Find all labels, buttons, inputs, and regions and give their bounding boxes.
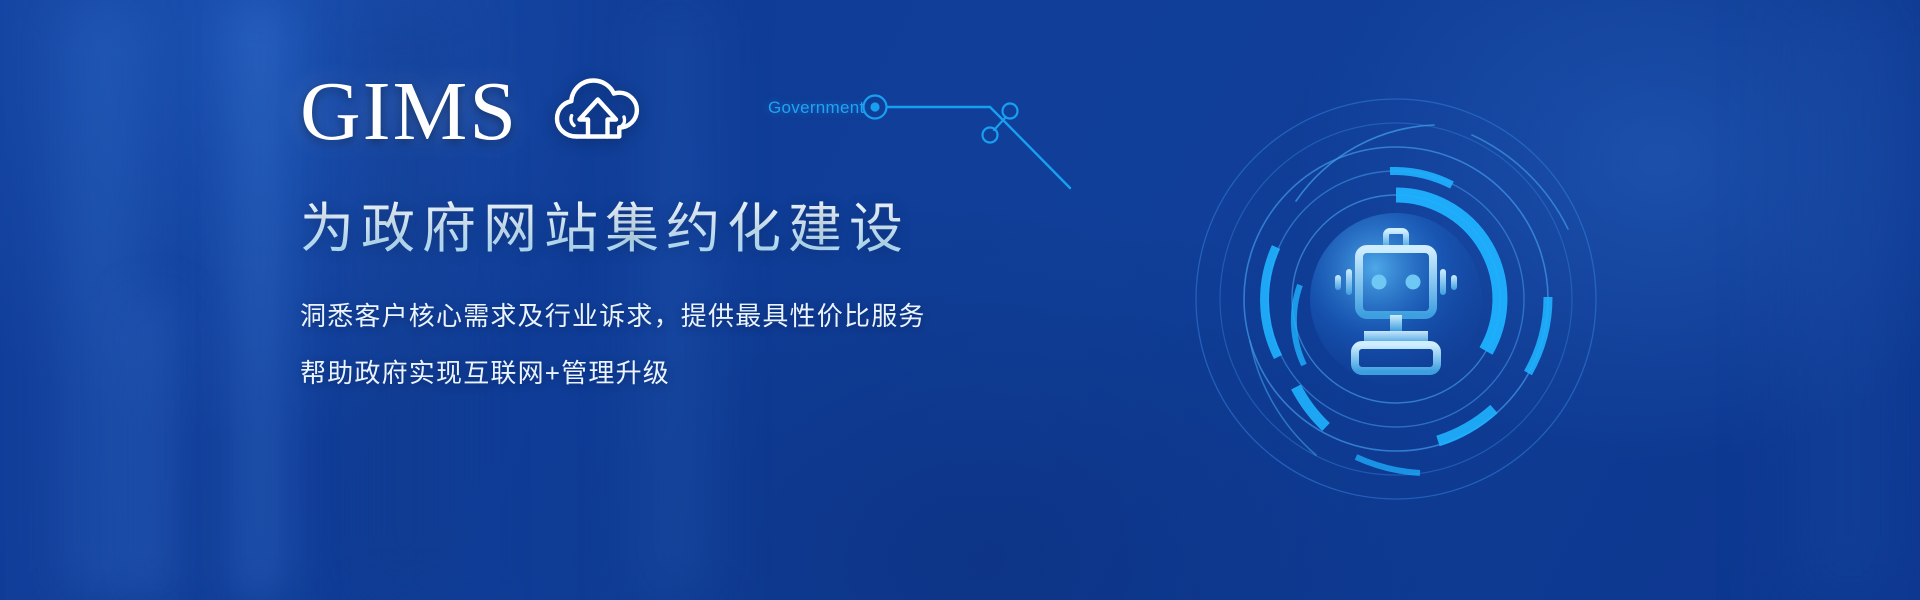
- hero-banner: GIMS 为政府网站集约化建设 洞悉客户核心需求及行业诉求，提供最具性价比服务 …: [0, 0, 1920, 600]
- background-streak: [1760, 0, 1920, 600]
- background-streak: [40, 0, 160, 600]
- government-label: Government: [768, 98, 865, 118]
- tech-ring-graphic: [1176, 79, 1616, 519]
- subtitle-line: 帮助政府实现互联网+管理升级: [300, 353, 926, 390]
- background-streak: [120, 300, 190, 600]
- cloud-upload-icon: [552, 73, 644, 150]
- government-connector: Government: [740, 70, 1160, 200]
- core-glow: [1310, 213, 1482, 385]
- brand-row: GIMS: [300, 72, 644, 152]
- circle-node-icon: [1003, 104, 1018, 119]
- background-streak: [215, 0, 305, 600]
- subtitle-line: 洞悉客户核心需求及行业诉求，提供最具性价比服务: [300, 296, 926, 333]
- ring-node-icon: [864, 96, 887, 119]
- connector-lines: [740, 70, 1160, 200]
- subtitle-list: 洞悉客户核心需求及行业诉求，提供最具性价比服务 帮助政府实现互联网+管理升级: [300, 296, 926, 410]
- brand-name: GIMS: [300, 72, 518, 152]
- circle-node-icon: [983, 128, 998, 143]
